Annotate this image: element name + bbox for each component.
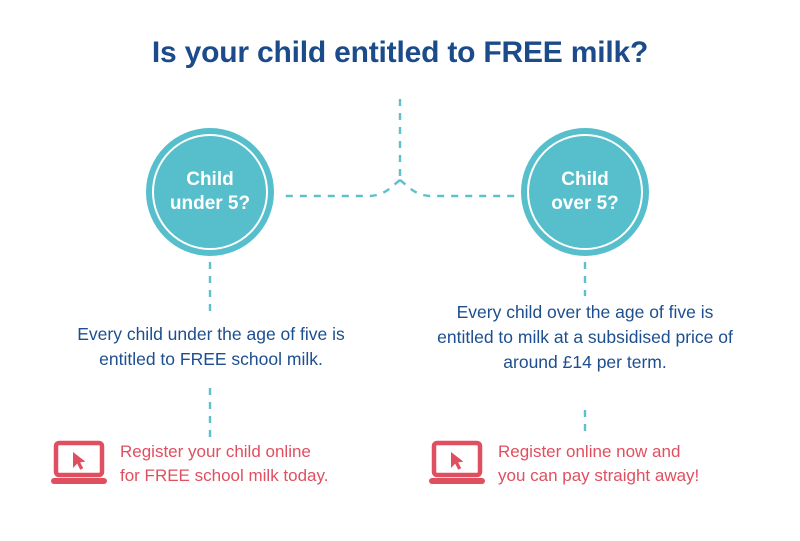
- laptop-cursor-icon: [428, 440, 486, 488]
- connector-branch-right: [400, 180, 519, 196]
- circle-label-line-1: Child: [561, 169, 609, 190]
- infographic-page: Is your child entitled to FREE milk? Chi…: [0, 0, 800, 541]
- body-text-over-5: Every child over the age of five is enti…: [432, 300, 738, 375]
- circle-label-line-2: under 5?: [170, 193, 250, 214]
- circle-label-under-5: Child under 5?: [162, 168, 258, 217]
- cta-text-register-free-milk: Register your child online for FREE scho…: [120, 440, 328, 488]
- decision-circle-under-5[interactable]: Child under 5?: [146, 128, 274, 256]
- decision-circle-over-5[interactable]: Child over 5?: [521, 128, 649, 256]
- body-text-under-5: Every child under the age of five is ent…: [55, 322, 367, 372]
- cta-register-free-milk[interactable]: Register your child online for FREE scho…: [50, 440, 328, 488]
- circle-label-line-2: over 5?: [551, 193, 619, 214]
- connector-branch-left: [280, 180, 400, 196]
- cta-register-pay[interactable]: Register online now and you can pay stra…: [428, 440, 699, 488]
- cta-text-register-pay: Register online now and you can pay stra…: [498, 440, 699, 488]
- circle-label-over-5: Child over 5?: [543, 168, 627, 217]
- page-title: Is your child entitled to FREE milk?: [0, 36, 800, 70]
- circle-label-line-1: Child: [186, 169, 234, 190]
- laptop-cursor-icon: [50, 440, 108, 488]
